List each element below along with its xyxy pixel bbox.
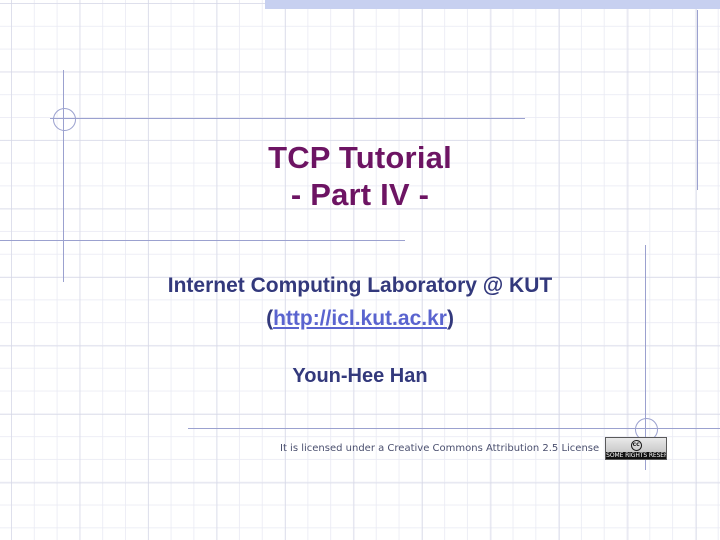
rule-horizontal-middle [0, 240, 405, 241]
lab-url-link[interactable]: http://icl.kut.ac.kr [273, 307, 447, 330]
paren-open: ( [266, 307, 273, 330]
slide-title: TCP Tutorial - Part IV - [0, 139, 720, 213]
corner-circle-top-left [53, 108, 76, 131]
slide-subtitle: Internet Computing Laboratory @ KUT (htt… [0, 269, 720, 335]
cc-badge-top: cc [606, 438, 666, 452]
creative-commons-icon: cc [631, 440, 642, 451]
top-accent-band [265, 0, 720, 9]
paren-close: ) [447, 307, 454, 330]
organization-line: Internet Computing Laboratory @ KUT [0, 269, 720, 302]
creative-commons-badge[interactable]: cc SOME RIGHTS RESERVED [605, 437, 667, 460]
organization-name: Internet Computing Laboratory @ KUT [168, 274, 552, 297]
license-row: It is licensed under a Creative Commons … [280, 437, 667, 460]
url-line: (http://icl.kut.ac.kr) [0, 302, 720, 335]
author-name: Youn-Hee Han [0, 365, 720, 388]
cc-badge-caption: SOME RIGHTS RESERVED [606, 452, 666, 460]
title-line-2: - Part IV - [0, 176, 720, 213]
rule-horizontal-top [50, 118, 525, 119]
title-line-1: TCP Tutorial [268, 140, 452, 175]
license-text: It is licensed under a Creative Commons … [280, 443, 599, 454]
slide-canvas: TCP Tutorial - Part IV - Internet Comput… [0, 0, 720, 540]
